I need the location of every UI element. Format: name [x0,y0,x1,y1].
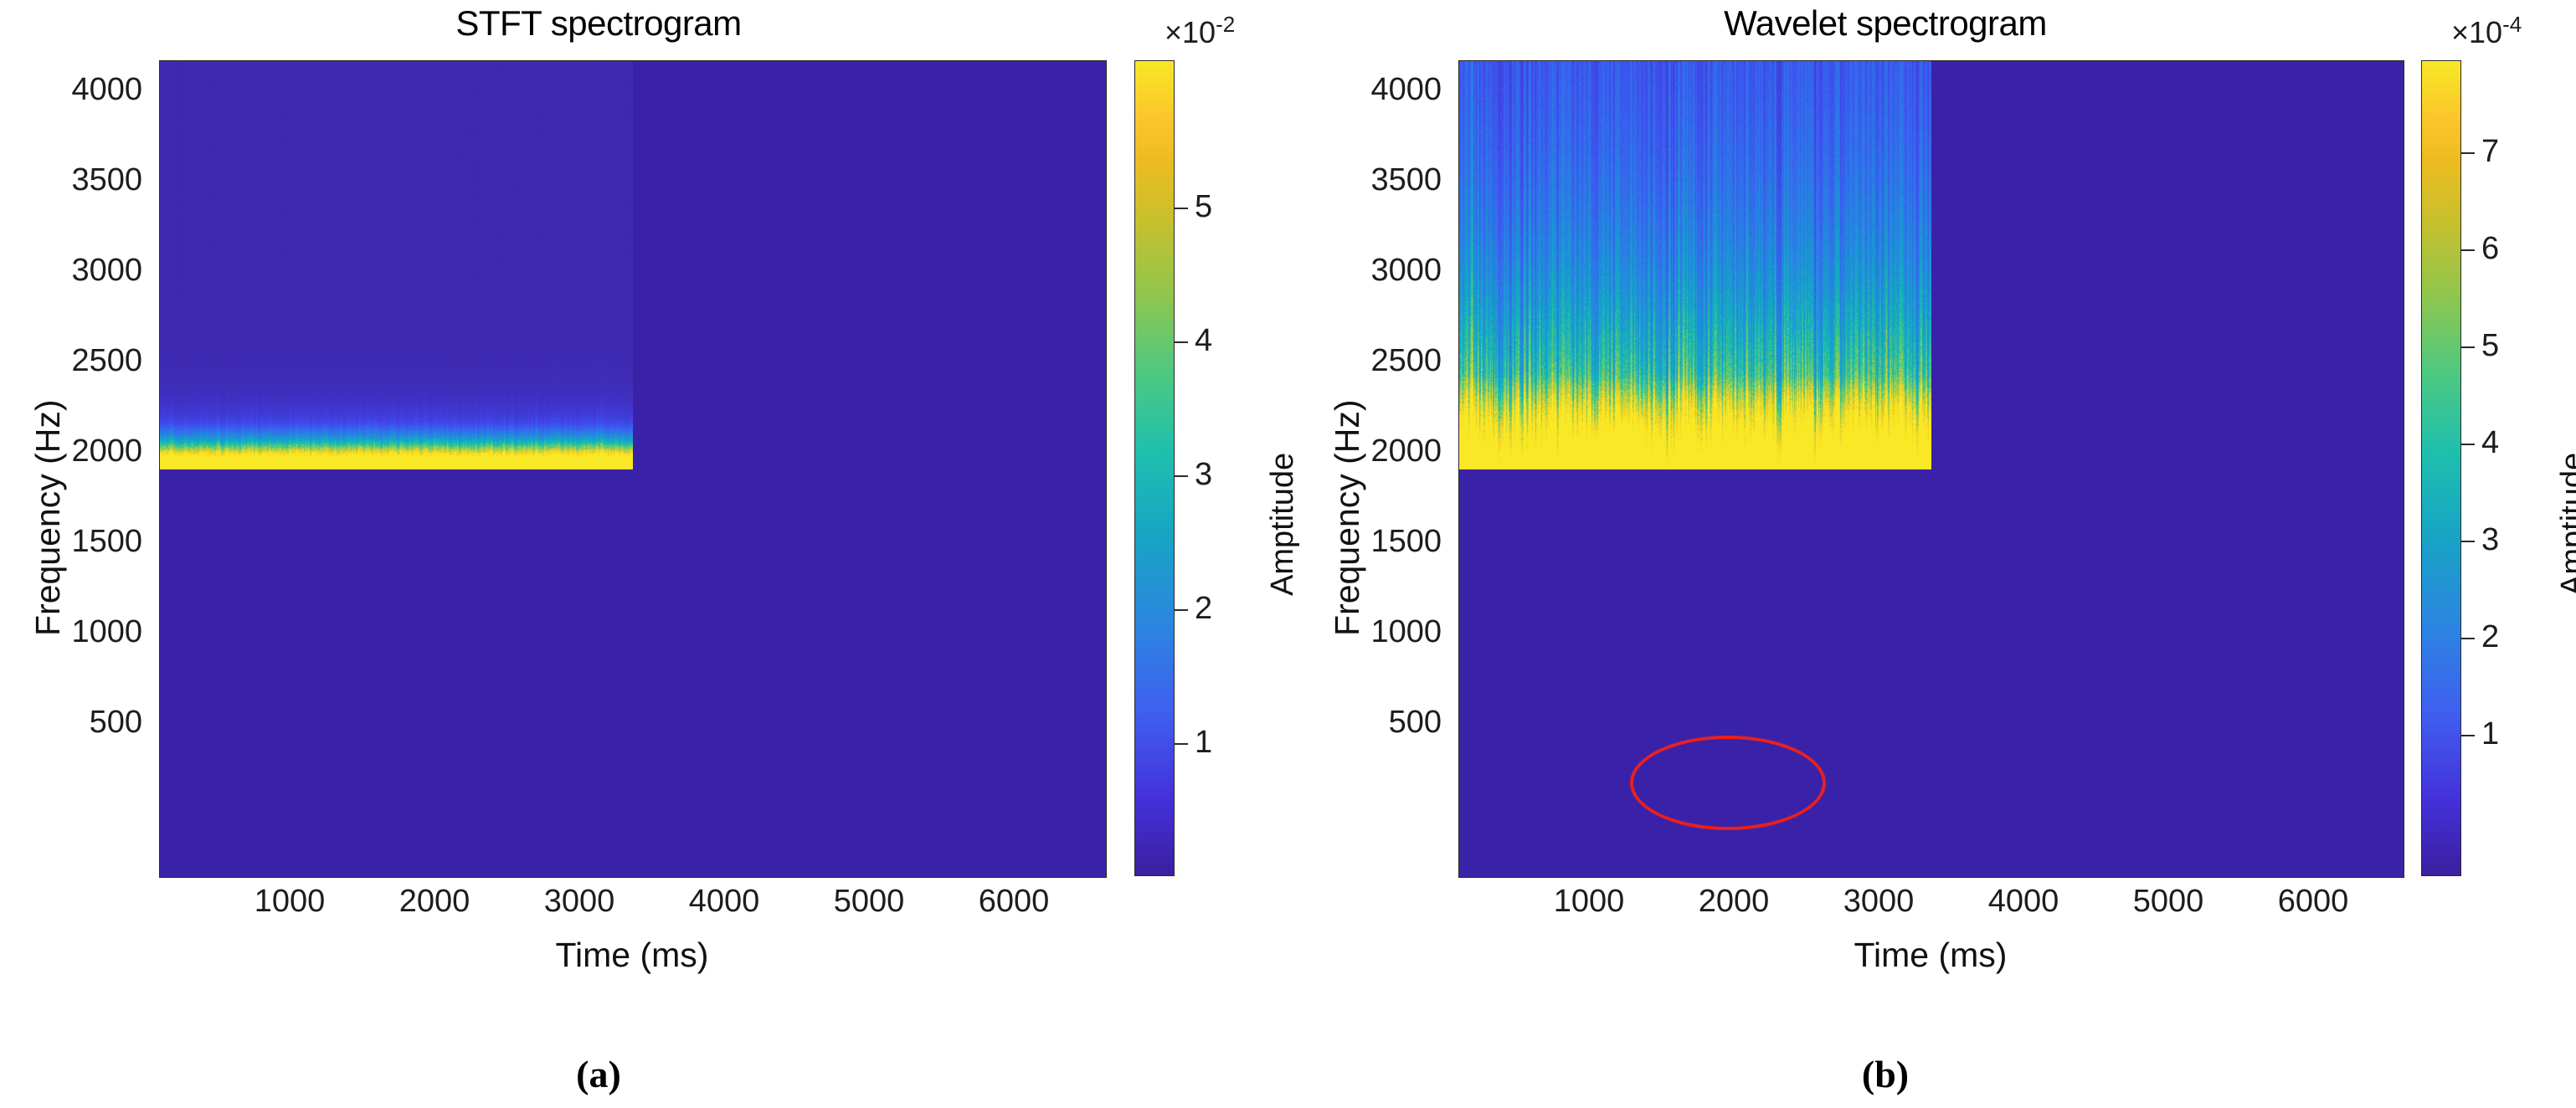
colorbar-tick: 3 [1195,459,1212,490]
panel-stft: STFT spectrogram 4000 3500 3000 2500 200… [0,0,1289,1108]
x-tick: 1000 [223,885,357,917]
x-tick: 3000 [1812,885,1946,917]
y-tick: 2500 [1370,345,1442,377]
y-tick: 1000 [71,616,142,648]
colorbar-exponent-prefix: ×10 [2451,15,2502,49]
y-tick: 3000 [1370,254,1442,286]
y-tick: 1500 [1370,526,1442,557]
subfigure-caption-a: (a) [0,1052,1243,1096]
colorbar-tick: 7 [2481,136,2499,167]
x-tick: 2000 [368,885,501,917]
colorbar-tick: 3 [2481,524,2499,556]
x-tick: 3000 [512,885,646,917]
colorbar-tick: 5 [2481,330,2499,362]
colorbar-exponent-wavelet: ×10-4 [2451,12,2522,50]
colorbar-exponent-prefix: ×10 [1165,15,1216,49]
x-tick: 4000 [1956,885,2090,917]
colorbar-tick: 1 [2481,718,2499,750]
colorbar-exponent-value: -2 [1216,12,1235,37]
annotation-ellipse-wavelet [1630,736,1826,830]
colorbar-exponent-value: -4 [2502,12,2522,37]
x-axis-label-stft: Time (ms) [159,936,1105,975]
spectrogram-image-stft [160,61,633,469]
colorbar-tick: 2 [2481,621,2499,653]
y-tick: 3500 [71,164,142,196]
x-tick-labels-stft: 1000 2000 3000 4000 5000 6000 [159,885,1105,936]
y-tick: 1000 [1370,616,1442,648]
panel-wavelet: Wavelet spectrogram 4000 3500 3000 2500 … [1287,0,2576,1108]
y-axis-label-wavelet: Frequency (Hz) [1328,399,1367,636]
y-tick: 2000 [1370,435,1442,467]
colorbar-wavelet: ×10-4 7 6 5 4 3 2 1 Amptitude [2421,60,2559,876]
x-tick: 5000 [2101,885,2235,917]
y-axis-label-stft: Frequency (Hz) [28,399,68,636]
y-tick: 500 [90,706,142,738]
x-tick: 5000 [802,885,936,917]
y-tick: 2500 [71,345,142,377]
axes-wavelet [1458,60,2404,878]
axes-stft [159,60,1107,878]
colorbar-tick: 6 [2481,233,2499,264]
panel-title-stft: STFT spectrogram [0,3,1243,44]
x-tick: 4000 [657,885,791,917]
y-tick: 3500 [1370,164,1442,196]
y-tick: 1500 [71,526,142,557]
x-tick: 6000 [2246,885,2380,917]
colorbar-tick: 1 [1195,726,1212,758]
y-tick: 4000 [71,74,142,105]
colorbar-label-wavelet: Amptitude [2555,453,2576,596]
colorbar-gradient-stft [1134,60,1175,876]
x-tick: 6000 [947,885,1081,917]
panel-title-wavelet: Wavelet spectrogram [1241,3,2530,44]
y-tick: 500 [1389,706,1442,738]
subfigure-caption-b: (b) [1241,1052,2530,1096]
x-tick-labels-wavelet: 1000 2000 3000 4000 5000 6000 [1458,885,2403,936]
figure-root: STFT spectrogram 4000 3500 3000 2500 200… [0,0,2576,1108]
spectrogram-image-wavelet [1459,61,1931,469]
x-tick: 1000 [1522,885,1656,917]
colorbar-tick: 4 [2481,427,2499,459]
colorbar-tick: 5 [1195,191,1212,223]
y-tick: 4000 [1370,74,1442,105]
y-tick: 3000 [71,254,142,286]
colorbar-tick: 2 [1195,592,1212,624]
colorbar-stft: ×10-2 5 4 3 2 1 Amptitude [1134,60,1268,876]
y-tick: 2000 [71,435,142,467]
colorbar-tick: 4 [1195,325,1212,357]
colorbar-gradient-wavelet [2421,60,2461,876]
x-axis-label-wavelet: Time (ms) [1458,936,2403,975]
colorbar-exponent-stft: ×10-2 [1165,12,1235,50]
x-tick: 2000 [1667,885,1801,917]
